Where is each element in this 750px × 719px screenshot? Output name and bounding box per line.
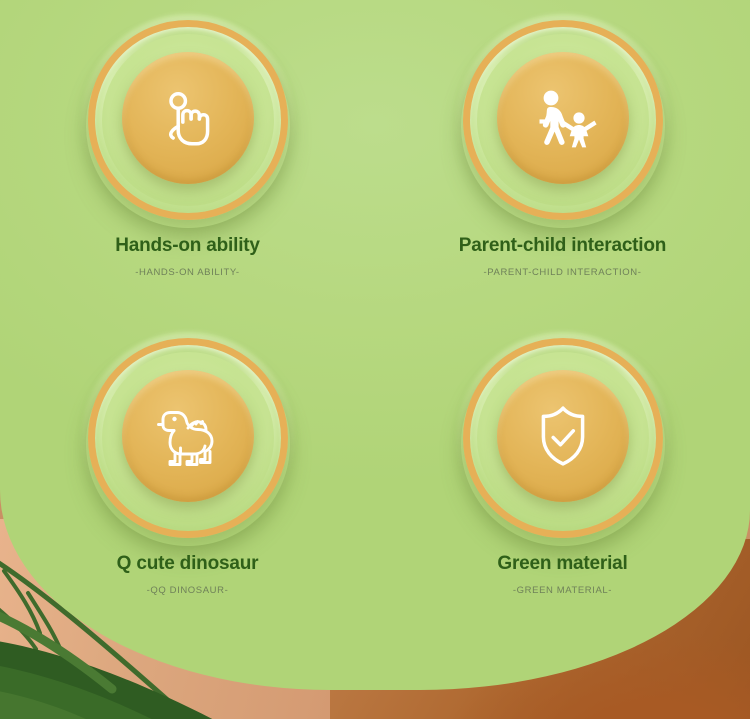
feature-subtitle: -QQ DINOSAUR- [0,585,375,596]
hand-tap-icon [155,85,221,151]
feature-card-green-material[interactable]: Green material -GREEN MATERIAL- [375,318,750,636]
feature-subtitle: -PARENT-CHILD INTERACTION- [375,267,750,278]
dinosaur-icon [150,403,226,469]
feature-title: Green material [375,554,750,575]
shield-check-icon [532,403,594,469]
feature-card-hands-on[interactable]: Hands-on ability -HANDS-ON ABILITY- [0,0,375,318]
feature-title: Hands-on ability [0,236,375,257]
caption: Q cute dinosaur -QQ DINOSAUR- [0,554,375,596]
feature-grid-banner: Hands-on ability -HANDS-ON ABILITY- [0,0,750,719]
feature-subtitle: -HANDS-ON ABILITY- [0,267,375,278]
feature-title: Parent-child interaction [375,236,750,257]
badge-disc [122,52,254,184]
feature-title: Q cute dinosaur [0,554,375,575]
icon-badge [82,332,294,544]
icon-badge [457,332,669,544]
caption: Parent-child interaction -PARENT-CHILD I… [375,236,750,278]
badge-disc [497,52,629,184]
feature-card-parent-child[interactable]: Parent-child interaction -PARENT-CHILD I… [375,0,750,318]
feature-subtitle: -GREEN MATERIAL- [375,585,750,596]
badge-disc [122,370,254,502]
badge-disc [497,370,629,502]
caption: Green material -GREEN MATERIAL- [375,554,750,596]
feature-card-dinosaur[interactable]: Q cute dinosaur -QQ DINOSAUR- [0,318,375,636]
icon-badge [82,14,294,226]
parent-child-icon [527,85,599,151]
features-grid: Hands-on ability -HANDS-ON ABILITY- [0,0,750,719]
caption: Hands-on ability -HANDS-ON ABILITY- [0,236,375,278]
icon-badge [457,14,669,226]
